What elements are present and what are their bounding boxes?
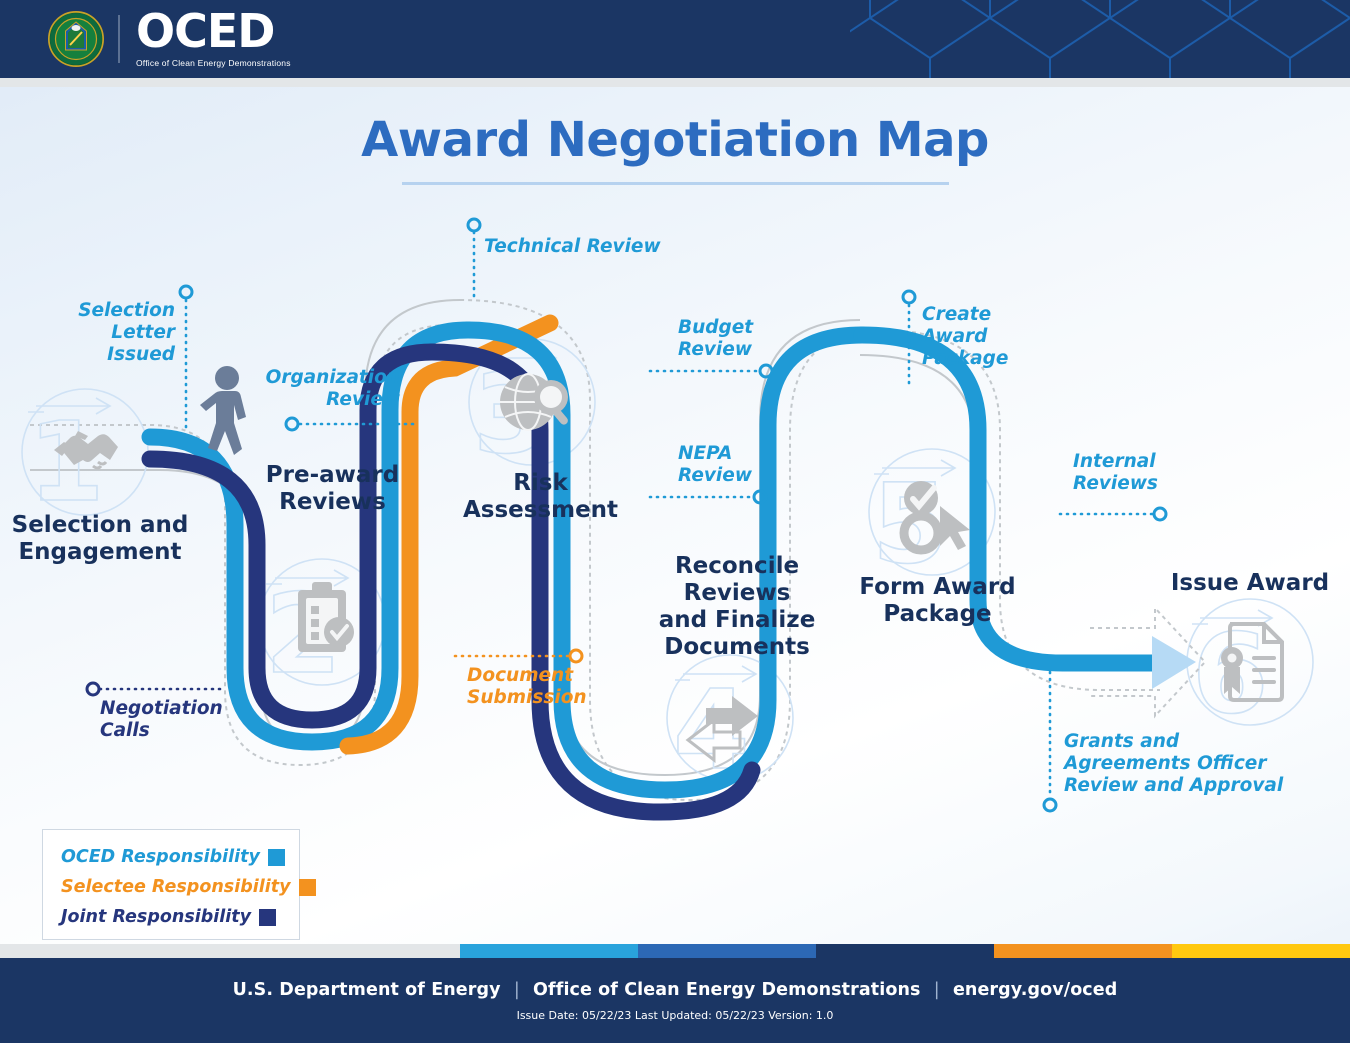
colorbar-segment-3 <box>816 944 994 958</box>
step-label-selection-and-engagement: Selection and Engagement <box>0 512 200 566</box>
walking-person-icon <box>200 366 246 455</box>
step-label-risk-assessment: Risk Assessment <box>448 470 633 524</box>
legend-item-oced: OCED Responsibility <box>61 842 285 872</box>
colorbar-segment-5 <box>1172 944 1350 958</box>
callout-selection-letter-issued: Selection Letter Issued <box>30 300 175 365</box>
legend-swatch-joint <box>259 909 276 926</box>
callout-dot-internal-reviews <box>1154 508 1166 520</box>
footer-version-meta: Issue Date: 05/22/23 Last Updated: 05/22… <box>517 1009 834 1022</box>
colorbar-segment-4 <box>994 944 1172 958</box>
callout-dot-technical-review <box>468 219 480 231</box>
step-label-issue-award: Issue Award <box>1155 570 1345 597</box>
colorbar-segment-2 <box>638 944 816 958</box>
legend-label-selectee: Selectee Responsibility <box>61 877 291 897</box>
footer-office: Office of Clean Energy Demonstrations <box>533 980 920 1000</box>
legend-label-oced: OCED Responsibility <box>61 847 260 867</box>
callout-document-submission: Document Submission <box>467 665 667 709</box>
footer-website-link[interactable]: energy.gov/oced <box>953 980 1117 1000</box>
callout-grants-officer-approval: Grants and Agreements Officer Review and… <box>1064 731 1334 796</box>
legend-swatch-selectee <box>299 879 316 896</box>
legend-box: OCED Responsibility Selectee Responsibil… <box>42 829 300 940</box>
step-label-form-award-package: Form Award Package <box>845 574 1030 628</box>
infographic-page: OCED Office of Clean Energy Demonstratio… <box>0 0 1350 1043</box>
callout-dot-document-submission <box>570 650 582 662</box>
callout-dot-organization-review <box>286 418 298 430</box>
step-label-pre-award-reviews: Pre-award Reviews <box>240 462 425 516</box>
callout-nepa-review: NEPA Review <box>678 443 818 487</box>
colorbar-pad <box>0 944 460 958</box>
footer-credit-line: U.S. Department of Energy | Office of Cl… <box>233 980 1118 1000</box>
footer-separator-1: | <box>507 980 527 1000</box>
svg-text:1: 1 <box>28 398 105 526</box>
callout-organization-review: Organization Review <box>255 367 400 411</box>
legend-item-selectee: Selectee Responsibility <box>61 872 285 902</box>
clipboard-check-icon <box>298 582 354 652</box>
legend-swatch-oced <box>268 849 285 866</box>
callout-internal-reviews: Internal Reviews <box>1073 451 1233 495</box>
callout-negotiation-calls: Negotiation Calls <box>100 698 280 742</box>
step-label-reconcile-reviews: Reconcile Reviews and Finalize Documents <box>642 553 832 662</box>
callout-dot-negotiation-calls <box>87 683 99 695</box>
callout-technical-review: Technical Review <box>484 236 714 258</box>
callout-dot-grants-officer-approval <box>1044 799 1056 811</box>
callout-budget-review: Budget Review <box>678 317 818 361</box>
colorbar-segment-1 <box>460 944 638 958</box>
callout-dot-selection-letter-issued <box>180 286 192 298</box>
callout-dot-create-award-package <box>903 291 915 303</box>
callout-create-award-package: Create Award Package <box>922 304 1072 369</box>
legend-label-joint: Joint Responsibility <box>61 907 251 927</box>
legend-item-joint: Joint Responsibility <box>61 902 285 932</box>
page-footer: U.S. Department of Energy | Office of Cl… <box>0 958 1350 1043</box>
footer-colorbar <box>0 944 1350 958</box>
footer-agency: U.S. Department of Energy <box>233 980 501 1000</box>
footer-separator-2: | <box>927 980 947 1000</box>
